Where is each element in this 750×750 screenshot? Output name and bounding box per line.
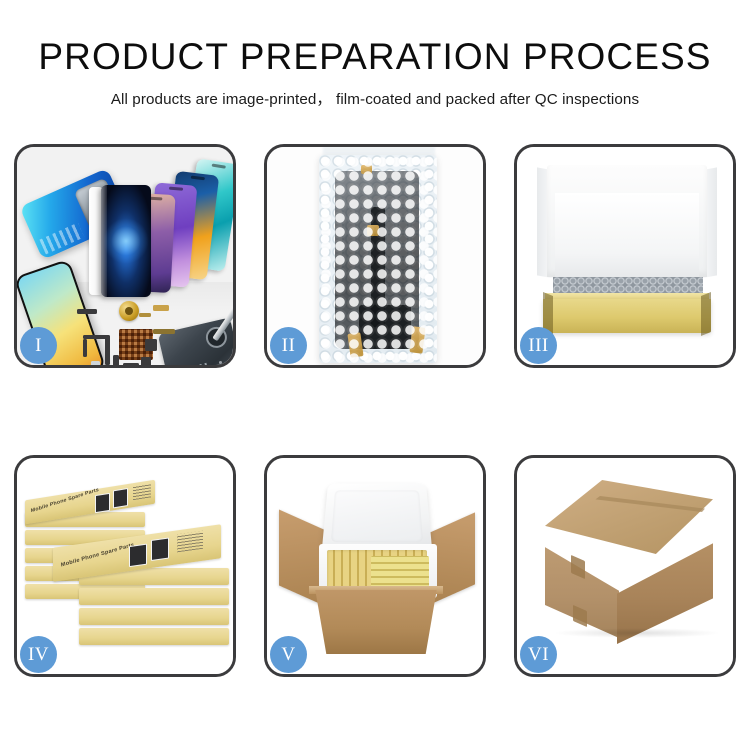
page-subtitle: All products are image-printed， film-coa… [0,87,750,109]
carton-shadow [553,628,721,638]
speaker-coil-icon [119,301,139,321]
step-badge-3: III [520,327,557,364]
gold-flex-icon [153,329,175,334]
stacked-box [79,588,229,605]
gold-tab-icon [367,225,379,236]
box-window-icon [95,493,110,513]
phone-front-glass-icon [101,185,151,297]
box-spec-text [133,483,151,500]
process-step-2[interactable]: II [264,144,486,368]
gold-tab-icon [361,165,372,174]
box-window-icon [129,544,147,568]
process-step-grid: I II [14,144,736,677]
step-badge-5: V [270,636,307,673]
step-badge-2: II [270,327,307,364]
open-carton-group [279,472,475,658]
carton-front-icon [307,590,445,654]
ribbon-cable-icon [83,335,107,339]
button-module-icon [141,357,151,365]
gold-clip-icon [139,313,151,317]
flex-cable-icon [77,309,97,314]
notch-icon [169,187,183,191]
step-badge-1: I [20,327,57,364]
box-window-icon [151,538,169,562]
box-label-text: Mobile Phone Spare Parts [61,542,135,568]
camera-module-icon [123,363,139,365]
box-spec-text [177,531,203,553]
antenna-strip-icon [105,335,110,365]
process-step-6[interactable]: VI [514,455,736,677]
box-label-text: Mobile Phone Spare Parts [31,487,100,514]
gold-tab-icon [409,326,425,353]
foam-cooler-lid-icon [322,483,433,552]
spare-parts-cluster [77,299,233,365]
sealed-carton-group [529,480,725,652]
box-window-icon [113,488,128,508]
stacked-box [79,608,229,625]
foam-pad-icon [555,193,699,279]
ribbon-cable-tail-icon [83,339,87,357]
stacked-box [79,628,229,645]
notch-icon [212,164,226,169]
process-step-4[interactable]: Mobile Phone Spare Parts Mobile Phone Sp… [14,455,236,677]
notch-icon [190,176,204,181]
kraft-box-front-icon [543,299,711,333]
carton-top-face [545,480,713,554]
step-badge-6: VI [520,636,557,673]
page-header: PRODUCT PREPARATION PROCESS All products… [0,0,750,109]
bracket-icon [113,355,119,365]
gold-connector-icon [153,305,169,311]
process-step-1[interactable]: I [14,144,236,368]
page-title: PRODUCT PREPARATION PROCESS [0,38,750,77]
vibrator-icon [145,339,157,351]
connector-board-icon [359,305,411,349]
process-step-5[interactable]: V [264,455,486,677]
screw-icon [219,361,222,364]
yellow-boxes-stack-icon [371,556,429,590]
bubble-wrap-bag-icon [319,155,437,363]
box-stack-group: Mobile Phone Spare Parts Mobile Phone Sp… [23,476,229,668]
sim-tray-icon [91,361,100,365]
process-step-3[interactable]: III [514,144,736,368]
step-badge-4: IV [20,636,57,673]
open-box-group [535,159,719,339]
